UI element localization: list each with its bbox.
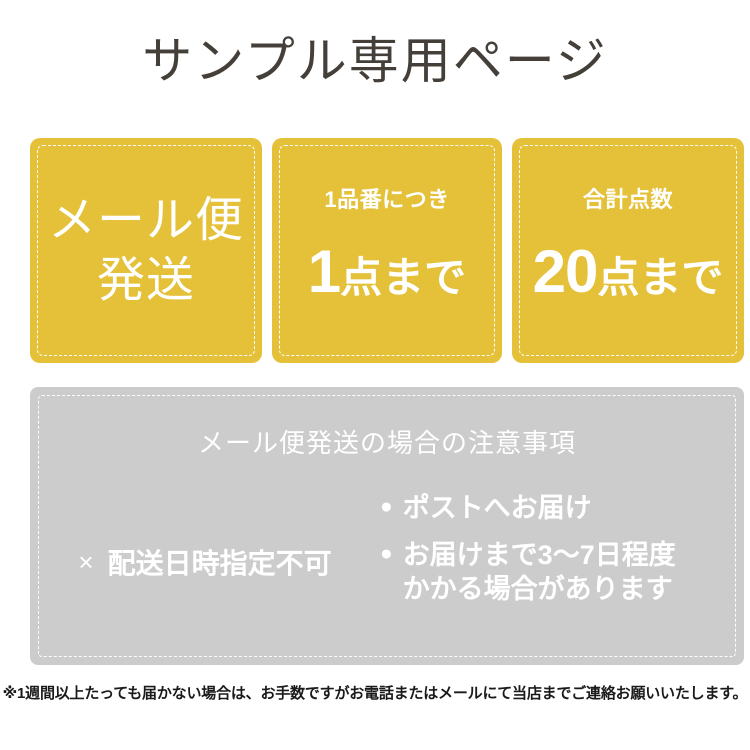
card-shipping-method: メール便 発送 (30, 138, 262, 363)
cross-icon: × (78, 547, 93, 578)
list-item-text: お届けまで3〜7日程度 かかる場合があります (403, 538, 676, 607)
notice-no-date-designation-text: 配送日時指定不可 (108, 542, 332, 582)
card-per-item-limit: 1品番につき 1点まで (272, 138, 502, 363)
card-total-limit-unit: 点まで (597, 254, 723, 301)
list-item-line: お届けまで3〜7日程度 (403, 538, 676, 573)
list-item: ● お届けまで3〜7日程度 かかる場合があります (380, 538, 744, 607)
list-item-text: ポストへお届け (403, 491, 592, 526)
footer-note: ※1週間以上たっても届かない場合は、お手数ですがお電話またはメールにて当店までご… (0, 682, 750, 703)
notice-no-date-designation: × 配送日時指定不可 (30, 487, 380, 637)
card-total-limit-number: 20 (533, 238, 598, 305)
card-shipping-method-text: メール便 発送 (48, 191, 244, 310)
card-total-limit-heading: 合計点数 (583, 182, 673, 214)
notice-bullet-list: ● ポストへお届け ● お届けまで3〜7日程度 かかる場合があります (380, 487, 744, 619)
info-cards-row: メール便 発送 1品番につき 1点まで 合計点数 20点まで (30, 138, 744, 363)
page-title: サンプル専用ページ (0, 30, 750, 93)
card-total-limit: 合計点数 20点まで (512, 138, 744, 363)
card-per-item-limit-number: 1 (308, 238, 340, 305)
card-shipping-method-line1: メール便 (48, 191, 244, 251)
list-item-line: ポストへお届け (403, 491, 592, 526)
card-total-limit-value: 20点まで (533, 242, 724, 302)
notice-body: × 配送日時指定不可 ● ポストへお届け ● お届けまで3〜7日程度 かかる場合… (30, 487, 744, 637)
bullet-dot-icon: ● (380, 538, 393, 571)
card-per-item-limit-unit: 点まで (340, 254, 466, 301)
notice-title: メール便発送の場合の注意事項 (30, 423, 744, 460)
notice-box: メール便発送の場合の注意事項 × 配送日時指定不可 ● ポストへお届け ● お届… (30, 387, 744, 665)
card-per-item-limit-value: 1点まで (308, 242, 466, 302)
card-per-item-limit-heading: 1品番につき (324, 182, 449, 214)
list-item-line: かかる場合があります (403, 572, 676, 607)
bullet-dot-icon: ● (380, 491, 393, 524)
list-item: ● ポストへお届け (380, 491, 744, 526)
card-shipping-method-line2: 発送 (48, 251, 244, 311)
